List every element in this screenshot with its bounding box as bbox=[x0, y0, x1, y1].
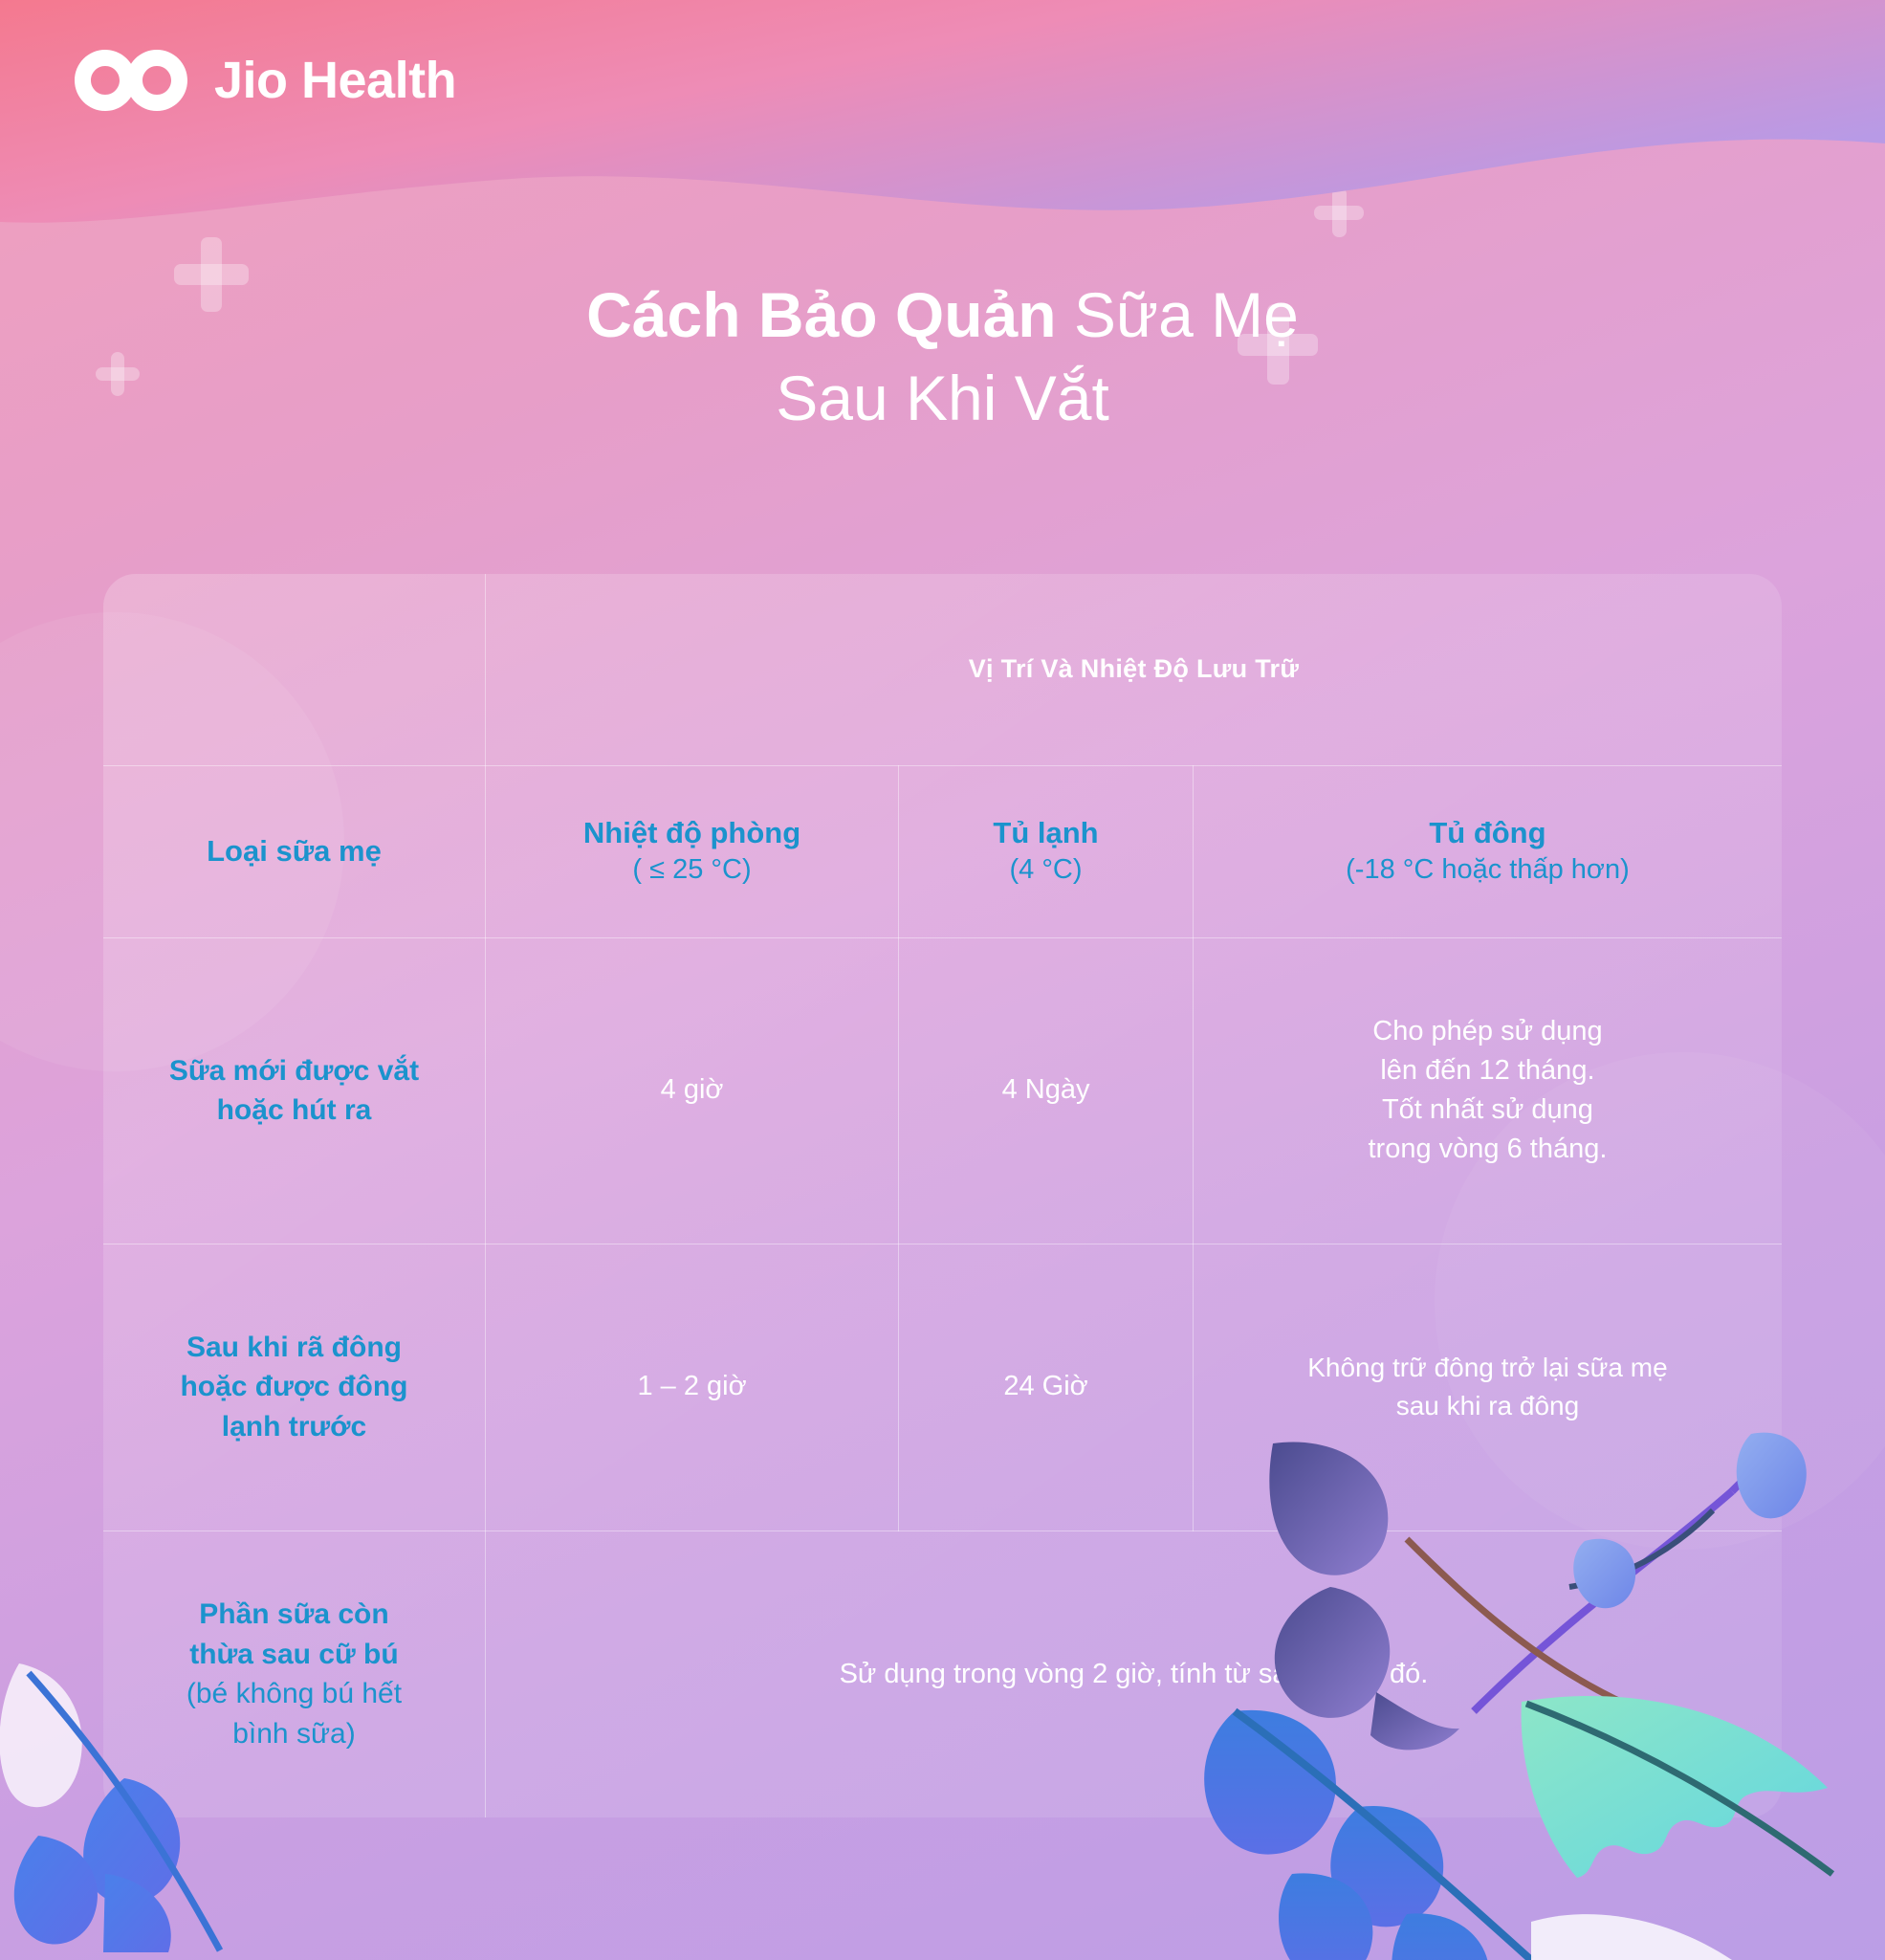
cell-fresh-freezer-line4: trong vòng 6 tháng. bbox=[1368, 1134, 1607, 1164]
cell-thawed-freezer-line1: Không trữ đông trở lại sữa mẹ bbox=[1307, 1353, 1667, 1382]
cell-thawed-room: 1 – 2 giờ bbox=[485, 1244, 898, 1531]
page-title-line1: Cách Bảo Quản Sữa Mẹ bbox=[0, 274, 1885, 357]
column-header-fridge-label: Tủ lạnh bbox=[993, 816, 1098, 849]
row-label-leftover-note1: (bé không bú hết bbox=[117, 1674, 471, 1713]
table-group-header-row: Vị Trí Và Nhiệt Độ Lưu Trữ bbox=[103, 574, 1782, 765]
cell-fresh-room: 4 giờ bbox=[485, 937, 898, 1244]
row-label-fresh-milk: Sữa mới được vắt hoặc hút ra bbox=[103, 937, 485, 1244]
cell-fresh-freezer-line2: lên đến 12 tháng. bbox=[1380, 1055, 1594, 1086]
jio-health-rings-logo-icon bbox=[75, 50, 187, 111]
row-label-thawed-line3: lạnh trước bbox=[222, 1411, 366, 1442]
row-label-thawed-milk: Sau khi rã đông hoặc được đông lạnh trướ… bbox=[103, 1244, 485, 1531]
cell-fresh-freezer-line3: Tốt nhất sử dụng bbox=[1382, 1094, 1593, 1125]
column-header-room-temp-label: Nhiệt độ phòng bbox=[583, 816, 800, 849]
table-corner-cell bbox=[103, 574, 485, 765]
table-column-header-row: Loại sữa mẹ Nhiệt độ phòng ( ≤ 25 °C) Tủ… bbox=[103, 765, 1782, 937]
row-label-leftover-line2: thừa sau cữ bú bbox=[189, 1639, 398, 1670]
cell-thawed-fridge: 24 Giờ bbox=[899, 1244, 1194, 1531]
row-label-thawed-line1: Sau khi rã đông bbox=[186, 1332, 402, 1363]
column-header-fridge: Tủ lạnh (4 °C) bbox=[899, 765, 1194, 937]
page-title-line1-light: Sữa Mẹ bbox=[1057, 279, 1299, 350]
table-group-header: Vị Trí Và Nhiệt Độ Lưu Trữ bbox=[485, 574, 1782, 765]
page-title: Cách Bảo Quản Sữa Mẹ Sau Khi Vắt bbox=[0, 274, 1885, 440]
cell-thawed-freezer: Không trữ đông trở lại sữa mẹ sau khi ra… bbox=[1193, 1244, 1782, 1531]
page-title-line2: Sau Khi Vắt bbox=[0, 357, 1885, 440]
brand-logo: Jio Health bbox=[75, 50, 456, 111]
row-label-fresh-milk-line2: hoặc hút ra bbox=[217, 1094, 372, 1126]
cell-leftover-merged-note: Sử dụng trong vòng 2 giờ, tính từ sau cữ… bbox=[485, 1531, 1782, 1817]
cell-fresh-fridge: 4 Ngày bbox=[899, 937, 1194, 1244]
column-header-freezer-label: Tủ đông bbox=[1429, 816, 1545, 849]
row-label-thawed-line2: hoặc được đông bbox=[180, 1371, 407, 1402]
table-row: Sau khi rã đông hoặc được đông lạnh trướ… bbox=[103, 1244, 1782, 1531]
table-row: Sữa mới được vắt hoặc hút ra 4 giờ 4 Ngà… bbox=[103, 937, 1782, 1244]
column-header-room-temp: Nhiệt độ phòng ( ≤ 25 °C) bbox=[485, 765, 898, 937]
page-title-line1-bold: Cách Bảo Quản bbox=[586, 279, 1056, 350]
row-label-leftover-note2: bình sữa) bbox=[117, 1714, 471, 1753]
infographic-poster: Jio Health Cách Bảo Quản Sữa Mẹ Sau Khi … bbox=[0, 0, 1885, 1960]
column-header-milk-type-label: Loại sữa mẹ bbox=[207, 834, 382, 868]
cell-thawed-freezer-line2: sau khi ra đông bbox=[1396, 1391, 1579, 1420]
brand-name: Jio Health bbox=[214, 55, 456, 106]
cell-fresh-freezer-line1: Cho phép sử dụng bbox=[1372, 1016, 1602, 1046]
storage-table-panel: Vị Trí Và Nhiệt Độ Lưu Trữ Loại sữa mẹ N… bbox=[103, 574, 1782, 1817]
cell-fresh-freezer: Cho phép sử dụng lên đến 12 tháng. Tốt n… bbox=[1193, 937, 1782, 1244]
column-header-room-temp-sub: ( ≤ 25 °C) bbox=[499, 852, 885, 889]
column-header-freezer: Tủ đông (-18 °C hoặc thấp hơn) bbox=[1193, 765, 1782, 937]
table-row: Phần sữa còn thừa sau cữ bú (bé không bú… bbox=[103, 1531, 1782, 1817]
row-label-fresh-milk-line1: Sữa mới được vắt bbox=[169, 1055, 419, 1087]
column-header-milk-type: Loại sữa mẹ bbox=[103, 765, 485, 937]
header-band bbox=[0, 0, 1885, 287]
column-header-freezer-sub: (-18 °C hoặc thấp hơn) bbox=[1207, 852, 1768, 889]
row-label-leftover-milk: Phần sữa còn thừa sau cữ bú (bé không bú… bbox=[103, 1531, 485, 1817]
column-header-fridge-sub: (4 °C) bbox=[912, 852, 1179, 889]
row-label-leftover-line1: Phần sữa còn bbox=[199, 1598, 388, 1630]
storage-table: Vị Trí Và Nhiệt Độ Lưu Trữ Loại sữa mẹ N… bbox=[103, 574, 1782, 1817]
